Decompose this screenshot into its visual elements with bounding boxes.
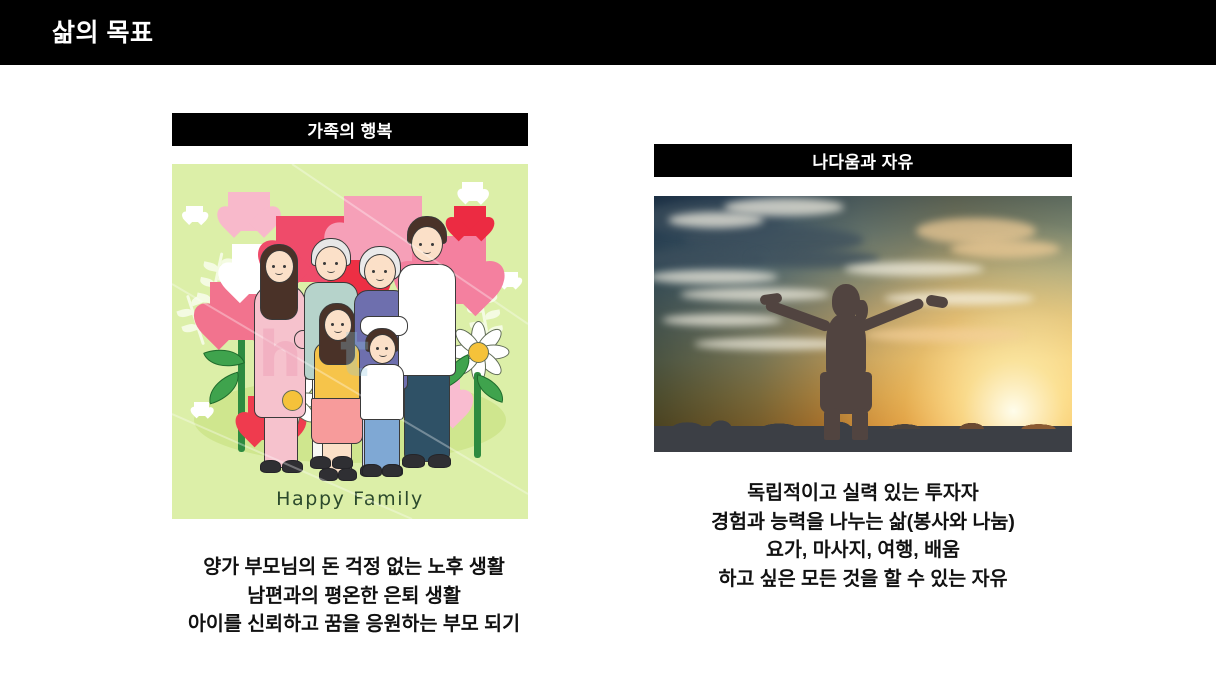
caption-freedom-line-3: 요가, 마사지, 여행, 배움	[613, 536, 1113, 565]
silhouette-leg-left	[824, 408, 840, 440]
father-head	[411, 226, 443, 262]
silhouette-arm-right	[858, 297, 925, 333]
son-shoe-left	[362, 464, 382, 477]
grandmother-head	[364, 254, 396, 289]
caption-freedom-line-2: 경험과 능력을 나누는 삶(봉사와 나눔)	[613, 508, 1113, 537]
panel-family-happiness: 가족의 행복	[172, 113, 528, 519]
silhouette-hand-right	[925, 294, 949, 309]
family-illustration: h t Happy Family	[172, 164, 528, 519]
page-title: 삶의 목표	[52, 13, 153, 49]
son-head	[369, 334, 396, 364]
heart-crimson-right	[454, 206, 486, 236]
caption-freedom-line-1: 독립적이고 실력 있는 투자자	[613, 479, 1113, 508]
mother-shoe-right	[282, 460, 303, 473]
cloud-light-5	[662, 314, 782, 326]
panel-self-and-freedom: 나다움과 자유	[654, 144, 1072, 452]
panel-label-freedom-text: 나다움과 자유	[812, 148, 913, 173]
grandfather-head	[315, 246, 347, 281]
caption-family-line-2: 남편과의 평온한 은퇴 생활	[104, 582, 604, 611]
heart-outline-small-2	[462, 182, 483, 201]
cloud-light-7	[844, 262, 984, 276]
heart-pale-pink-topleft	[228, 192, 270, 231]
silhouette-leg-right	[852, 408, 868, 440]
heart-outline-small-1	[186, 206, 203, 222]
father-jeans	[404, 370, 450, 462]
cloud-warm-2	[950, 240, 1060, 258]
caption-family-line-3: 아이를 신뢰하고 꿈을 응원하는 부모 되기	[104, 610, 604, 639]
mother-shoe-left	[260, 460, 281, 473]
panel-label-freedom: 나다움과 자유	[654, 144, 1072, 177]
son-shoe-right	[382, 464, 402, 477]
happy-family-caption: Happy Family	[172, 488, 528, 510]
cloud-light-2	[724, 198, 844, 216]
son-shirt	[360, 364, 404, 420]
person-silhouette	[804, 284, 984, 434]
sunset-photo	[654, 196, 1072, 452]
daughter-skirt	[311, 398, 363, 444]
caption-family-happiness: 양가 부모님의 돈 걱정 없는 노후 생활 남편과의 평온한 은퇴 생활 아이를…	[104, 553, 604, 639]
slide-header-bar	[0, 0, 1216, 65]
father-shoe-left	[402, 454, 425, 468]
caption-self-and-freedom: 독립적이고 실력 있는 투자자 경험과 능력을 나누는 삶(봉사와 나눔) 요가…	[613, 479, 1113, 594]
caption-family-line-1: 양가 부모님의 돈 걱정 없는 노후 생활	[104, 553, 604, 582]
grandfather-shoe-right	[332, 456, 353, 469]
panel-label-family-text: 가족의 행복	[307, 117, 392, 142]
daughter-shoe-right	[338, 468, 357, 481]
heart-outline-small-4	[194, 402, 209, 416]
daughter-shoe-left	[319, 468, 338, 481]
caption-freedom-line-4: 하고 싶은 모든 것을 할 수 있는 자유	[613, 565, 1113, 594]
daughter-head	[324, 309, 352, 341]
panel-label-family: 가족의 행복	[172, 113, 528, 146]
father-shoe-right	[428, 454, 451, 468]
mother-head	[265, 250, 294, 283]
cloud-light-3	[654, 270, 778, 284]
